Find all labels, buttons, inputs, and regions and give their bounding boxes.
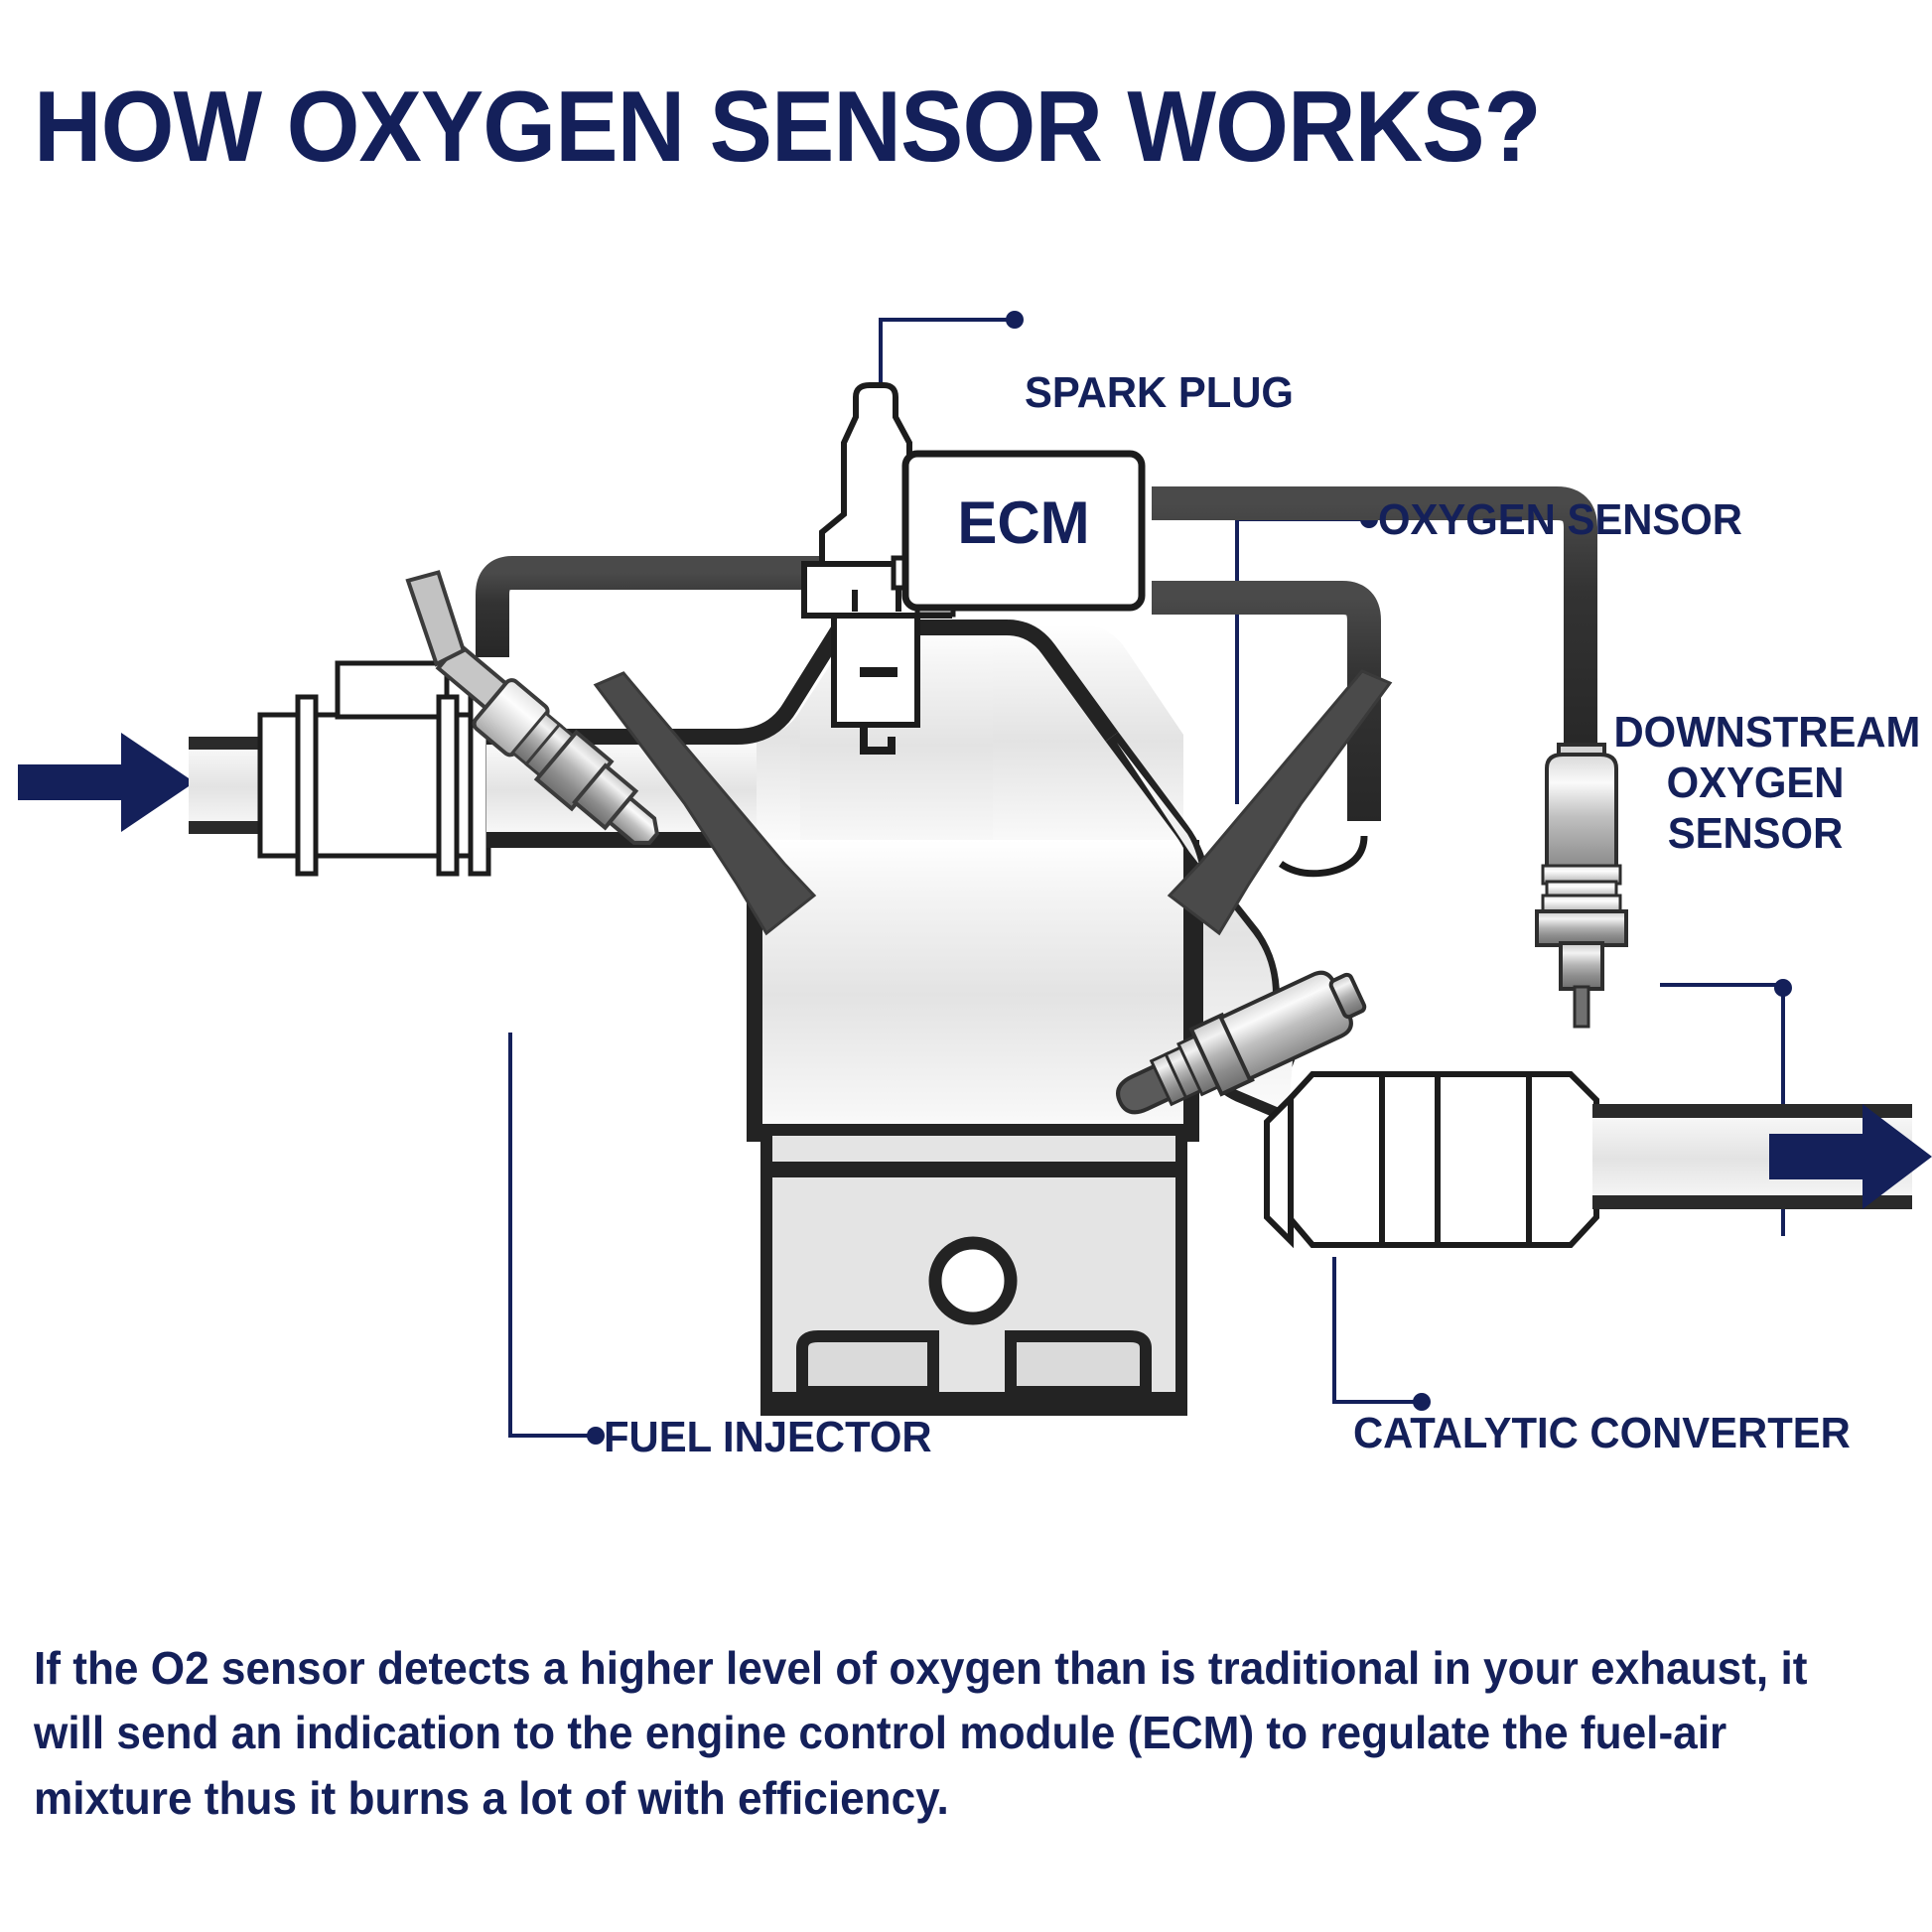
piston-base-right	[1011, 1336, 1146, 1392]
downstream-oxygen-sensor	[1537, 745, 1626, 1027]
piston	[766, 1130, 1181, 1410]
piston-wrist-pin	[935, 1243, 1011, 1318]
leader-catalytic-converter	[1334, 1257, 1418, 1402]
intake-air-arrow	[18, 733, 195, 832]
label-downstream-line-2: OXYGEN	[1614, 758, 1897, 808]
intake-flange-1	[298, 697, 316, 874]
downstream-sensor-neck	[1561, 943, 1602, 989]
page-root: HOW OXYGEN SENSOR WORKS?	[0, 0, 1932, 1932]
intake-inlet-pipe	[189, 737, 264, 834]
label-spark-plug: SPARK PLUG	[1025, 367, 1294, 418]
downstream-sensor-body	[1547, 755, 1616, 868]
cable-pigtail-upstream	[1281, 836, 1364, 874]
diagram-svg: ECM	[0, 248, 1932, 1549]
catalytic-converter-assembly	[1267, 1074, 1932, 1245]
leader-fuel-injector	[510, 1033, 592, 1436]
ecm-module[interactable]: ECM	[894, 454, 1142, 615]
intake-flange-2	[439, 697, 457, 874]
ecm-label: ECM	[957, 489, 1089, 556]
oxygen-sensor-diagram: ECM	[0, 248, 1932, 1549]
label-downstream-line-1: DOWNSTREAM	[1614, 707, 1897, 758]
label-downstream-line-3: SENSOR	[1614, 808, 1897, 859]
piston-crown	[766, 1130, 1181, 1168]
label-fuel-injector: FUEL INJECTOR	[604, 1412, 932, 1462]
leader-dot-downstream-sensor	[1774, 979, 1792, 997]
maf-sensor-boss	[338, 663, 447, 717]
air-intake-assembly	[18, 663, 488, 874]
label-downstream-oxygen-sensor: DOWNSTREAM OXYGEN SENSOR	[1614, 707, 1897, 859]
downstream-sensor-hex	[1537, 911, 1626, 945]
exhaust-runner-fill	[993, 625, 1183, 848]
converter-inlet-cone	[1267, 1098, 1291, 1241]
piston-base-left	[802, 1336, 933, 1392]
manifold-bottom-left-edge	[486, 840, 755, 1142]
caption-paragraph: If the O2 sensor detects a higher level …	[34, 1636, 1812, 1831]
leader-dot-fuel-injector	[587, 1427, 605, 1445]
page-title: HOW OXYGEN SENSOR WORKS?	[34, 77, 1714, 178]
piston-base-line	[766, 1392, 1181, 1408]
leader-dot-spark-plug	[1006, 311, 1024, 329]
label-oxygen-sensor: OXYGEN SENSOR	[1378, 494, 1742, 545]
catalytic-converter-shell	[1291, 1074, 1596, 1245]
downstream-sensor-probe	[1575, 987, 1588, 1027]
label-catalytic-converter: CATALYTIC CONVERTER	[1353, 1408, 1851, 1458]
